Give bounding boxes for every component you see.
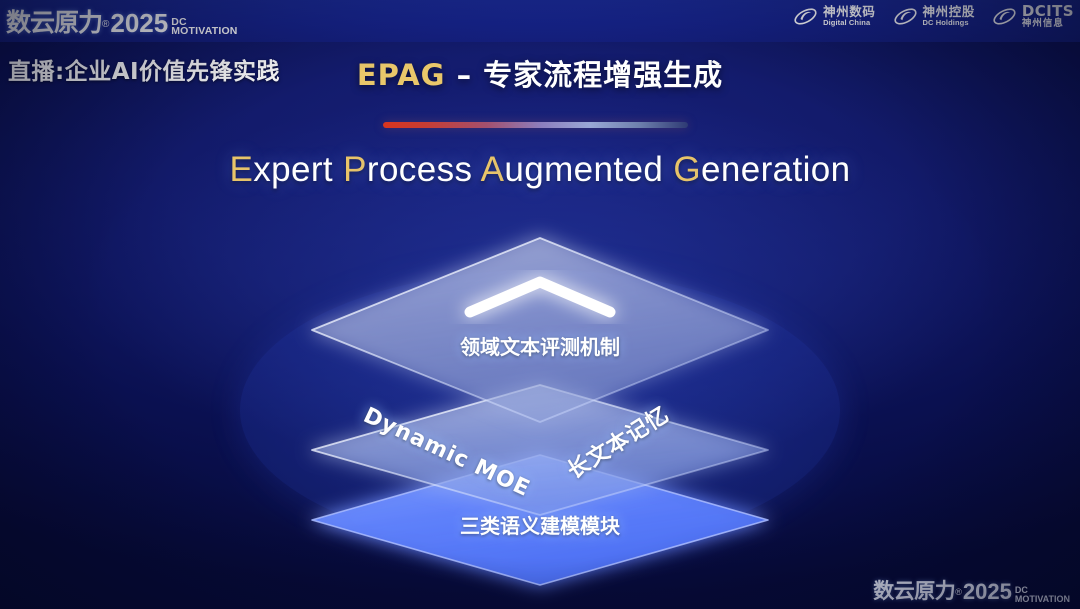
brand-motivation: MOTIVATION: [171, 27, 237, 37]
partner-name-en: DC Holdings: [923, 19, 975, 27]
partner-name-en: 神州信息: [1022, 19, 1074, 29]
partner-logo-dcits: DCITS 神州信息: [992, 4, 1074, 29]
chevron-up-icon: [470, 282, 610, 312]
title-chinese: 专家流程增强生成: [483, 58, 723, 92]
subtitle-rest-generation: eneration: [701, 150, 851, 189]
swirl-logo-icon: [893, 4, 918, 29]
title-acronym: EPAG: [357, 58, 446, 92]
partner-logo-digital-china: 神州数码 Digital China: [793, 4, 875, 29]
subtitle-cap-a: A: [481, 150, 505, 189]
layer-label-long-text-memory: 长文本记忆: [560, 397, 674, 485]
partner-logo-text: 神州控股 DC Holdings: [923, 6, 975, 27]
swirl-logo-icon: [793, 4, 818, 29]
partner-logo-group: 神州数码 Digital China 神州控股 DC Holdings: [793, 4, 1074, 29]
layer-label-bottom: 三类语义建模模块: [0, 510, 1080, 539]
title-divider: [383, 122, 688, 128]
subtitle-rest-process: rocess: [367, 150, 473, 189]
partner-name-en: Digital China: [823, 19, 875, 27]
brand-year: 2025: [963, 579, 1012, 605]
brand-tagline: DC MOTIVATION: [1015, 586, 1070, 605]
brand-name-cn: 数云原力: [873, 575, 955, 605]
slide-canvas: 数云原力 ® 2025 DC MOTIVATION 直播:企业AI价值先锋实践 …: [0, 0, 1080, 609]
subtitle-rest-augmented: ugmented: [504, 150, 663, 189]
diagram-layer-top: [312, 238, 768, 422]
partner-logo-text: 神州数码 Digital China: [823, 6, 875, 27]
diagram-layer-bottom: [312, 455, 768, 585]
partner-logo-text: DCITS 神州信息: [1022, 4, 1074, 29]
brand-logo-top-left: 数云原力 ® 2025 DC MOTIVATION: [6, 3, 238, 39]
layer-label-dynamic-moe: Dynamic MOE: [359, 403, 534, 502]
brand-tagline: DC MOTIVATION: [171, 18, 237, 39]
partner-logo-dc-holdings: 神州控股 DC Holdings: [893, 4, 975, 29]
brand-motivation: MOTIVATION: [1015, 595, 1070, 603]
registered-mark-icon: ®: [955, 587, 962, 597]
registered-mark-icon: ®: [102, 19, 109, 30]
diagram-layer-middle: [312, 385, 768, 515]
swirl-logo-icon: [992, 4, 1017, 29]
layer-label-top: 领域文本评测机制: [0, 331, 1080, 360]
brand-name-cn: 数云原力: [6, 3, 102, 39]
title-dash: –: [445, 58, 483, 92]
subtitle-cap-g: G: [673, 150, 701, 189]
brand-logo-bottom-right: 数云原力 ® 2025 DC MOTIVATION: [873, 575, 1070, 605]
subtitle-rest-expert: xpert: [253, 150, 333, 189]
subtitle-cap-p: P: [343, 150, 367, 189]
subtitle: Expert Process Augmented Generation: [0, 150, 1080, 190]
page-title: EPAG – 专家流程增强生成: [0, 52, 1080, 94]
subtitle-cap-e: E: [229, 150, 253, 189]
brand-year: 2025: [110, 8, 168, 39]
